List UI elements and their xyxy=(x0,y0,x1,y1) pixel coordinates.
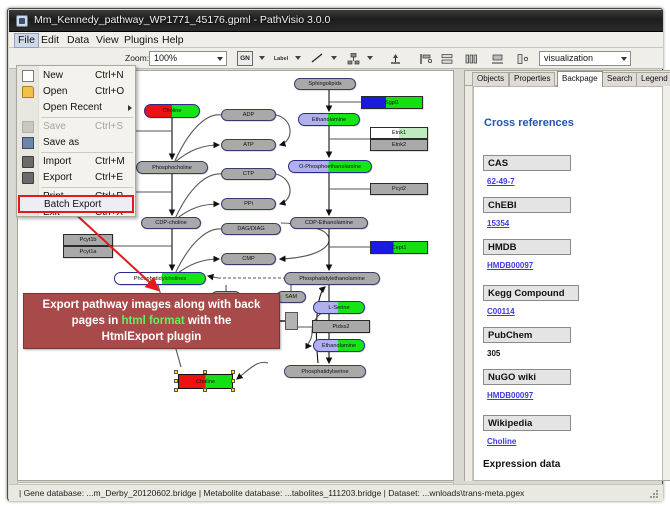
node-l-serine[interactable]: L-Serine xyxy=(313,301,365,314)
node-dag[interactable]: DAG/DIAG xyxy=(221,223,281,235)
node-choline-top[interactable]: Choline xyxy=(144,104,200,118)
gene-sgpl1[interactable]: Sgpl1 xyxy=(361,96,423,109)
panel-left-scrollbar[interactable] xyxy=(465,86,473,481)
gene-ptdss2[interactable]: Ptdss2 xyxy=(312,320,370,333)
xref-header-wikipedia: Wikipedia xyxy=(483,415,571,431)
gene-pcyt2[interactable]: Pcyt2 xyxy=(370,183,428,195)
annotation-line-3: HtmlExport plugin xyxy=(102,329,202,345)
node-adp[interactable]: ADP xyxy=(221,109,276,121)
node-cdp-choline[interactable]: CDP-choline xyxy=(141,217,201,229)
chevron-right-icon xyxy=(128,105,132,111)
file-menu-new-label: New xyxy=(43,70,63,81)
resize-handle-sw[interactable] xyxy=(174,388,178,392)
menu-edit[interactable]: Edit xyxy=(37,34,63,47)
label-dropdown-icon[interactable] xyxy=(295,56,301,60)
file-menu-divider-3 xyxy=(41,187,133,188)
xref-header-pubchem: PubChem xyxy=(483,327,571,343)
align-left-icon xyxy=(419,53,432,65)
xref-value-pubchem: 305 xyxy=(487,349,500,358)
file-menu-open-recent[interactable]: Open Recent xyxy=(17,100,137,116)
xref-value-hmdb[interactable]: HMDB00097 xyxy=(487,261,533,270)
resize-handle-se[interactable] xyxy=(231,388,235,392)
annotation-line-2-pre: pages in xyxy=(72,315,122,327)
menu-file[interactable]: File xyxy=(14,33,39,48)
node-cdp-ethanolamine[interactable]: CDP-Ethanolamine xyxy=(290,217,368,229)
file-menu-export-accel: Ctrl+E xyxy=(95,172,123,183)
tab-backpage[interactable]: Backpage xyxy=(557,71,603,87)
selected-node-choline[interactable]: Choline xyxy=(178,374,233,389)
node-ppi[interactable]: PPi xyxy=(221,198,276,210)
xref-header-nugo: NuGO wiki xyxy=(483,369,571,385)
file-menu-save-label: Save xyxy=(43,121,66,132)
stack-tool-button[interactable] xyxy=(439,51,455,66)
application-window: Mm_Kennedy_pathway_WP1771_45176.gpml - P… xyxy=(7,8,663,501)
interaction-dropdown-icon[interactable] xyxy=(367,56,373,60)
save-as-icon xyxy=(22,137,34,149)
file-menu-open-recent-label: Open Recent xyxy=(43,102,102,113)
node-o-phosphoethanolamine[interactable]: O-Phosphoethanolamine xyxy=(288,160,372,173)
file-menu-save: Save Ctrl+S xyxy=(17,119,137,135)
node-ctp[interactable]: CTP xyxy=(221,168,276,180)
file-menu-divider-1 xyxy=(41,117,133,118)
datanode-tool-button[interactable]: GN xyxy=(237,51,253,66)
label-tool-button[interactable]: Label xyxy=(273,51,289,66)
file-menu-import-accel: Ctrl+M xyxy=(95,156,125,167)
file-menu-export[interactable]: Export Ctrl+E xyxy=(17,170,137,186)
node-ethanolamine-1[interactable]: Ethanolamine xyxy=(298,113,360,126)
zoom-value: 100% xyxy=(154,53,177,63)
file-menu-batch-export-label: Batch Export xyxy=(44,199,101,210)
app-root: Mm_Kennedy_pathway_WP1771_45176.gpml - P… xyxy=(0,0,670,509)
annotation-callout: Export pathway images along with back pa… xyxy=(23,293,280,349)
align-left-tool-button[interactable] xyxy=(417,51,433,66)
label-icon: Label xyxy=(274,56,288,62)
node-ethanolamine-2[interactable]: Ethanolamine xyxy=(313,339,365,352)
tab-objects[interactable]: Objects xyxy=(472,72,509,86)
annotation-line-2: pages in html format with the xyxy=(72,313,232,329)
file-menu-new[interactable]: New Ctrl+N xyxy=(17,68,137,84)
node-sam[interactable]: SAM xyxy=(276,291,306,303)
pathvisio-icon xyxy=(16,15,28,27)
resize-handle-e[interactable] xyxy=(231,379,235,383)
resize-handle-ne[interactable] xyxy=(231,370,235,374)
xref-value-cas[interactable]: 62-49-7 xyxy=(487,177,515,186)
resize-handle-n[interactable] xyxy=(203,370,207,374)
xref-header-chebi: ChEBI xyxy=(483,197,571,213)
cross-references-heading: Cross references xyxy=(484,117,574,129)
datanode-icon: GN xyxy=(240,55,250,62)
stack-icon xyxy=(441,53,454,65)
node-cmp[interactable]: CMP xyxy=(221,253,276,265)
line-icon xyxy=(311,53,324,64)
backpage-content: Cross references CAS 62-49-7 ChEBI 15354… xyxy=(473,86,663,481)
align-top-tool-button[interactable] xyxy=(387,51,403,66)
xref-value-nugo[interactable]: HMDB00097 xyxy=(487,391,533,400)
chevron-down-icon xyxy=(621,57,627,61)
panel-tabstrip: Objects Properties Backpage Search Legen… xyxy=(465,71,670,86)
file-menu-save-as-label: Save as xyxy=(43,137,79,148)
export-icon xyxy=(22,172,34,184)
xref-value-wikipedia[interactable]: Choline xyxy=(487,437,516,446)
expression-data-heading: Expression data xyxy=(483,459,560,470)
resize-handle-nw[interactable] xyxy=(174,370,178,374)
xref-header-hmdb: HMDB xyxy=(483,239,571,255)
resize-grip-icon[interactable] xyxy=(649,489,659,499)
file-menu-export-label: Export xyxy=(43,172,72,183)
visualization-value: visualization xyxy=(544,53,593,63)
line-dropdown-icon[interactable] xyxy=(331,56,337,60)
file-menu-batch-export[interactable]: Batch Export xyxy=(18,195,134,213)
title-bar: Mm_Kennedy_pathway_WP1771_45176.gpml - P… xyxy=(9,10,663,32)
xref-header-kegg: Kegg Compound xyxy=(483,285,579,301)
file-menu-open-accel: Ctrl+O xyxy=(95,86,124,97)
save-icon xyxy=(22,121,34,133)
interaction-icon xyxy=(347,53,360,65)
gene-pcyt1b[interactable]: Pcyt1b xyxy=(63,234,113,246)
open-folder-icon xyxy=(22,86,34,98)
node-phosphocholine[interactable]: Phosphocholine xyxy=(136,161,208,174)
group-icon xyxy=(491,53,504,65)
distribute-tool-button[interactable] xyxy=(463,51,479,66)
gene-pcyt1a[interactable]: Pcyt1a xyxy=(63,246,113,258)
menu-bar: File Edit Data View Plugins Help xyxy=(9,32,663,48)
gene-cept1[interactable]: Cept1 xyxy=(370,241,428,254)
new-document-icon xyxy=(22,70,34,82)
tab-properties[interactable]: Properties xyxy=(509,72,555,86)
gene-etnk2[interactable]: Etnk2 xyxy=(370,139,428,151)
annotation-highlight: html format xyxy=(121,315,184,327)
menu-data[interactable]: Data xyxy=(63,34,93,47)
group-tool-button[interactable] xyxy=(489,51,505,66)
menu-plugins[interactable]: Plugins xyxy=(120,34,162,47)
menu-help[interactable]: Help xyxy=(158,34,188,47)
line-tool-button[interactable] xyxy=(309,51,325,66)
order-icon xyxy=(517,53,530,65)
zoom-label: Zoom: xyxy=(125,53,149,63)
import-icon xyxy=(22,156,34,168)
resize-handle-w[interactable] xyxy=(174,379,178,383)
xref-header-cas: CAS xyxy=(483,155,571,171)
file-menu-import[interactable]: Import Ctrl+M xyxy=(17,154,137,170)
window-title: Mm_Kennedy_pathway_WP1771_45176.gpml - P… xyxy=(34,14,330,26)
side-panel: Objects Properties Backpage Search Legen… xyxy=(464,70,670,481)
annotation-line-2-post: with the xyxy=(185,315,232,327)
tab-legend[interactable]: Legend xyxy=(636,72,670,86)
resize-handle-s[interactable] xyxy=(203,388,207,392)
node-atp[interactable]: ATP xyxy=(221,139,276,151)
status-text: | Gene database: ...m_Derby_20120602.bri… xyxy=(19,488,524,498)
file-menu-new-accel: Ctrl+N xyxy=(95,70,124,81)
file-menu-import-label: Import xyxy=(43,156,71,167)
tab-search[interactable]: Search xyxy=(602,72,637,86)
gene-etnk1[interactable]: Etnk1 xyxy=(370,127,428,139)
file-menu-open[interactable]: Open Ctrl+O xyxy=(17,84,137,100)
order-tool-button[interactable] xyxy=(515,51,531,66)
datanode-dropdown-icon[interactable] xyxy=(259,56,265,60)
chevron-down-icon xyxy=(217,57,223,61)
xref-value-kegg[interactable]: C00114 xyxy=(487,307,515,316)
file-menu-save-as[interactable]: Save as xyxy=(17,135,137,151)
file-menu-divider-2 xyxy=(41,152,133,153)
node-phosphatidylethanolamine[interactable]: Phosphatidylethanolamine xyxy=(284,272,380,285)
xref-value-chebi[interactable]: 15354 xyxy=(487,219,509,228)
annotation-line-1: Export pathway images along with back xyxy=(43,297,261,313)
status-bar: | Gene database: ...m_Derby_20120602.bri… xyxy=(9,484,663,501)
distribute-icon xyxy=(465,53,478,65)
file-menu-save-accel: Ctrl+S xyxy=(95,121,123,132)
zoom-combo[interactable]: 100% xyxy=(149,51,227,66)
file-menu-open-label: Open xyxy=(43,86,67,97)
callout-anchor-box xyxy=(285,312,298,330)
node-sphingolipids[interactable]: Sphingolipids xyxy=(294,78,356,90)
align-top-icon xyxy=(389,53,402,65)
visualization-combo[interactable]: visualization xyxy=(539,51,631,66)
interaction-tool-button[interactable] xyxy=(345,51,361,66)
menu-view[interactable]: View xyxy=(92,34,123,47)
node-phosphatidylserine[interactable]: Phosphatidylserine xyxy=(284,365,366,378)
node-phosphatidylcholines[interactable]: Phosphatidylcholines xyxy=(114,272,206,285)
